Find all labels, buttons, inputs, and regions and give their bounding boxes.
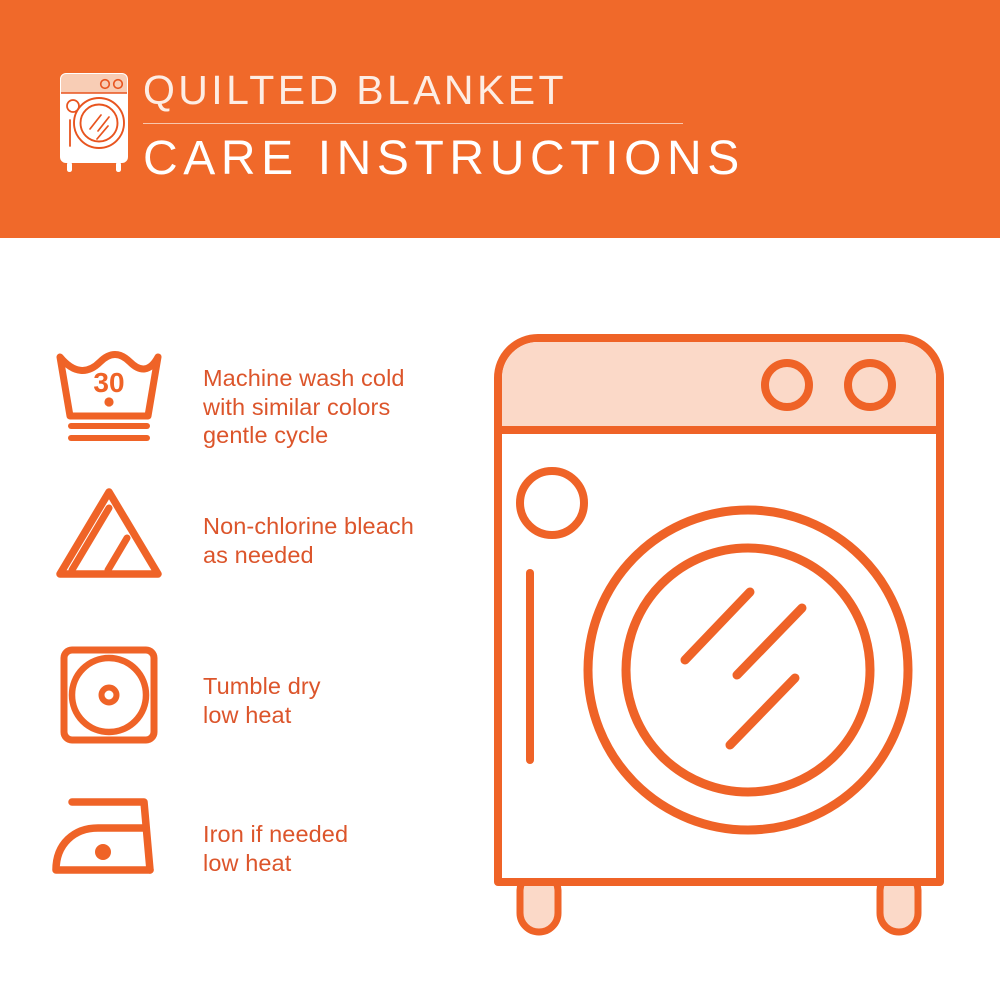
instructions-list: 30 Machine wash cold with similar colors… [0, 238, 470, 1000]
iron-low-heat-icon [48, 788, 170, 898]
page-title: QUILTED BLANKET [143, 66, 783, 114]
wash-temperature-value: 30 [93, 367, 124, 398]
tumble-dry-low-heat-icon [48, 640, 170, 750]
header-title-block: QUILTED BLANKET CARE INSTRUCTIONS [143, 66, 783, 187]
care-instructions-page: QUILTED BLANKET CARE INSTRUCTIONS 30 [0, 0, 1000, 1000]
instruction-label-machine-wash: Machine wash cold with similar colors ge… [203, 364, 405, 450]
machine-wash-tub-30-gentle-icon: 30 [48, 340, 170, 450]
header-band: QUILTED BLANKET CARE INSTRUCTIONS [0, 0, 1000, 238]
instruction-label-bleach: Non-chlorine bleach as needed [203, 512, 414, 569]
instruction-label-iron: Iron if needed low heat [203, 820, 348, 877]
front-load-washing-machine-illustration [480, 320, 980, 940]
instruction-label-tumble-dry: Tumble dry low heat [203, 672, 321, 729]
page-subtitle: CARE INSTRUCTIONS [143, 131, 783, 187]
washing-machine-icon [45, 66, 145, 174]
non-chlorine-bleach-triangle-icon [48, 482, 170, 592]
title-divider [143, 123, 683, 124]
